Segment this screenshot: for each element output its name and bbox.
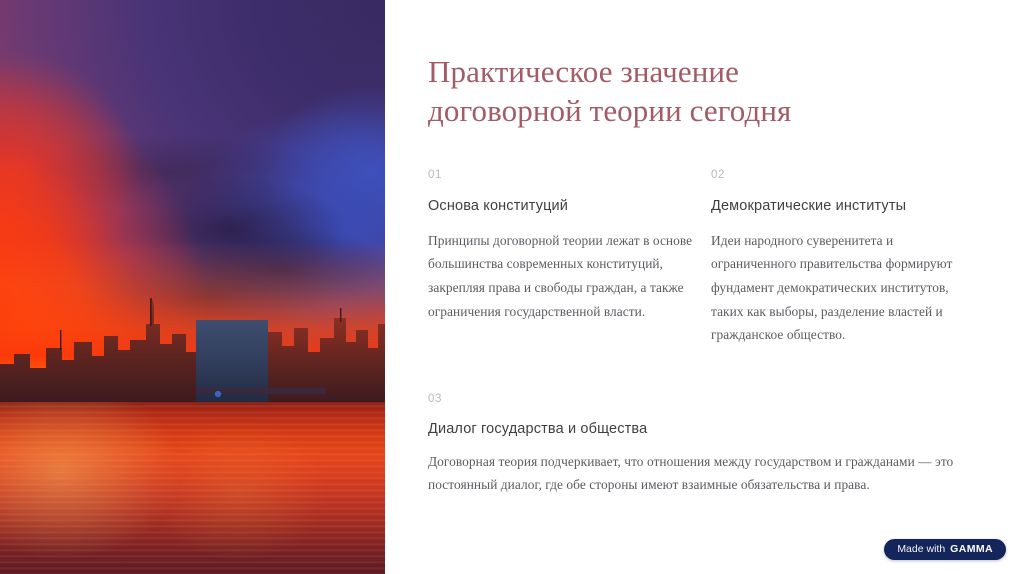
slide: Практическое значение договорной теории …	[0, 0, 1024, 574]
section-number: 03	[428, 393, 978, 405]
section-body: Договорная теория подчеркивает, что отно…	[428, 450, 978, 497]
section-card-02: 02 Демократические институты Идеи народн…	[711, 169, 984, 347]
section-card-03: 03 Диалог государства и общества Договор…	[428, 393, 984, 497]
content-panel: Практическое значение договорной теории …	[385, 0, 1024, 574]
section-card-01: 01 Основа конституций Принципы договорно…	[428, 169, 702, 347]
made-with-gamma-badge[interactable]: Made with GAMMA	[884, 539, 1006, 561]
section-body: Идеи народного суверенитета и ограниченн…	[711, 229, 978, 347]
section-number: 02	[711, 169, 978, 181]
section-heading: Основа конституций	[428, 198, 696, 214]
section-body: Принципы договорной теории лежат в основ…	[428, 229, 696, 323]
image-grain	[0, 0, 385, 574]
page-title: Практическое значение договорной теории …	[428, 52, 898, 131]
badge-made-with-label: Made with	[897, 544, 945, 555]
section-heading: Демократические институты	[711, 198, 978, 214]
sections-grid: 01 Основа конституций Принципы договорно…	[428, 169, 984, 497]
hero-image	[0, 0, 385, 574]
badge-brand-label: GAMMA	[950, 544, 993, 555]
section-number: 01	[428, 169, 696, 181]
section-heading: Диалог государства и общества	[428, 421, 978, 437]
